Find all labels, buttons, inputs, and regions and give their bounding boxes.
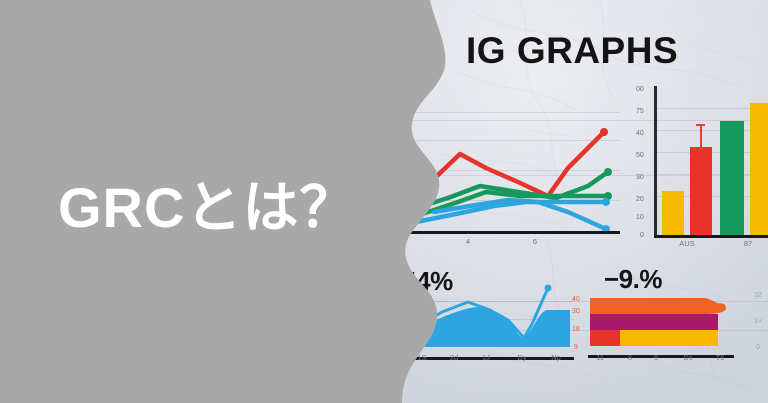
red-block	[590, 330, 620, 346]
area-chart-xtick: 1J	[482, 354, 490, 362]
gridline	[408, 112, 620, 113]
band-chart-right-label: 32	[754, 292, 762, 299]
band-chart-ytick: 40	[572, 296, 580, 303]
area-chart-plot: 1S 2d 1J Dy Np	[412, 268, 574, 360]
bar-chart-ytick: 20	[636, 196, 644, 203]
bar-chart-x-axis	[654, 235, 768, 238]
bar-chart-ytick: 40	[636, 130, 644, 137]
bar-chart-ytick: 75	[636, 108, 644, 115]
line-chart-plot	[408, 108, 620, 234]
gridline	[408, 140, 620, 141]
band-chart-ytick: 18	[572, 326, 580, 333]
band-chart-xtick: 9	[654, 354, 658, 362]
band-chart-x-axis	[588, 355, 734, 358]
gridline	[412, 319, 574, 320]
series-red	[418, 132, 604, 196]
area-chart-ytick: 10	[397, 316, 405, 323]
bar-chart-ytick: 50	[636, 152, 644, 159]
band-chart-plot: 11 8 9 Dc T6	[588, 268, 734, 360]
band-chart-right-label: 3✓	[754, 318, 764, 325]
area-chart-x-axis	[412, 357, 574, 360]
band-chart-xtick: 11	[596, 354, 604, 362]
bar-chart-xtick: AUS	[679, 240, 694, 248]
gridline	[408, 170, 620, 171]
band-chart-xtick: Dc	[683, 354, 692, 362]
bar-87-a	[720, 121, 744, 235]
bar-chart: 00 75 40 50 30 20 10 0	[636, 86, 768, 238]
bar-aus-b	[690, 147, 712, 235]
band-chart-right-label: 0	[756, 344, 760, 351]
bar-aus-b-errorcap	[696, 124, 705, 126]
bar-chart-plot: AUS 87	[654, 86, 768, 238]
page-title: GRCとは？	[58, 163, 356, 244]
bar-87-b	[750, 103, 768, 235]
line-chart-xtick: 6	[533, 238, 537, 246]
band-chart-xtick: 8	[628, 354, 632, 362]
bar-chart-ytick: 10	[636, 214, 644, 221]
band-chart-ytick: 9	[574, 344, 578, 351]
area-chart-xtick: Np	[551, 354, 561, 362]
bar-chart-y-axis	[654, 86, 657, 238]
bar-chart-xtick: 87	[744, 240, 752, 248]
stacked-band-chart: −9.% 40 30 18 9 11	[572, 268, 768, 360]
band-chart-xtick: T6	[716, 354, 725, 362]
band-chart-ytick: 30	[572, 308, 580, 315]
bar-chart-ytick: 0	[640, 232, 644, 239]
banner-stage: GRCとは？	[0, 0, 768, 403]
gridline	[412, 301, 574, 302]
area-chart-endpoint	[545, 285, 552, 292]
area-chart: !4% 18 10 0 1S 2d 1J Dy Np	[398, 268, 574, 360]
headline: IG GRAPHS	[466, 30, 678, 72]
bar-aus-b-errorbar	[700, 126, 702, 150]
area-chart-ytick: 18	[397, 298, 405, 305]
area-chart-xtick: 2d	[450, 354, 458, 362]
bar-chart-ytick: 30	[636, 174, 644, 181]
bar-aus-a	[662, 191, 684, 235]
line-chart-xtick: 4	[466, 238, 470, 246]
bar-chart-ytick: 00	[636, 86, 644, 93]
gridline	[408, 200, 620, 201]
series-red-endpoint	[600, 128, 608, 136]
line-chart-x-axis	[408, 231, 620, 234]
area-chart-xtick: 1S	[417, 354, 426, 362]
line-chart: 4 6	[408, 108, 620, 234]
area-chart-xtick: Dy	[517, 354, 526, 362]
area-chart-ytick: 0	[400, 342, 404, 349]
area-chart-plot-svg	[412, 268, 574, 350]
